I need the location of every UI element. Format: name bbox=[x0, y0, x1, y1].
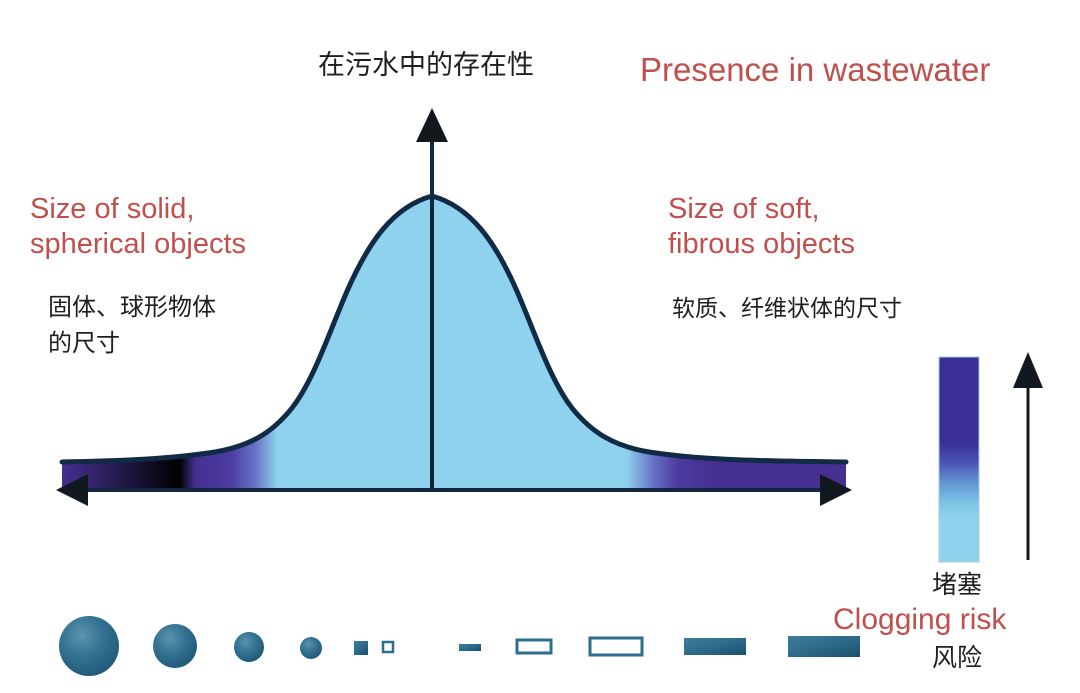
particle-bar-7 bbox=[459, 644, 481, 651]
clogging-risk-label-en: Clogging risk bbox=[833, 602, 1063, 638]
colorbar-arrow-up bbox=[1013, 352, 1043, 560]
left-label-cn-line1: 固体、球形物体 bbox=[48, 290, 348, 326]
particle-bar-9 bbox=[590, 638, 642, 655]
left-label-cn: 固体、球形物体 的尺寸 bbox=[48, 290, 348, 362]
axis-title-cn: 在污水中的存在性 bbox=[318, 48, 568, 82]
right-label-en-line1: Size of soft, bbox=[668, 192, 998, 227]
particle-sphere-3 bbox=[234, 632, 264, 662]
particle-size-row bbox=[59, 616, 860, 676]
right-label-en-line2: fibrous objects bbox=[668, 227, 998, 262]
left-label-en-line2: spherical objects bbox=[30, 227, 360, 262]
particle-sphere-2 bbox=[153, 624, 197, 668]
clogging-risk-label-cn-bottom: 风险 bbox=[932, 643, 1052, 673]
particle-bar-8 bbox=[517, 640, 551, 653]
particle-bar-10 bbox=[684, 638, 746, 655]
clogging-risk-colorbar bbox=[939, 357, 979, 562]
left-label-cn-line2: 的尺寸 bbox=[48, 326, 348, 362]
particle-sphere-4 bbox=[300, 637, 322, 659]
right-label-en: Size of soft, fibrous objects bbox=[668, 192, 998, 262]
axis-arrow-up bbox=[416, 108, 448, 142]
particle-bar-11 bbox=[788, 636, 860, 657]
right-label-cn: 软质、纤维状体的尺寸 bbox=[672, 292, 1012, 324]
left-label-en: Size of solid, spherical objects bbox=[30, 192, 360, 262]
particle-square-outline-6 bbox=[383, 642, 393, 652]
particle-sphere-1 bbox=[59, 616, 119, 676]
particle-square-5 bbox=[354, 641, 368, 655]
left-label-en-line1: Size of solid, bbox=[30, 192, 360, 227]
clogging-risk-label-cn-top: 堵塞 bbox=[932, 570, 1052, 600]
axis-title-en: Presence in wastewater bbox=[640, 50, 1060, 90]
